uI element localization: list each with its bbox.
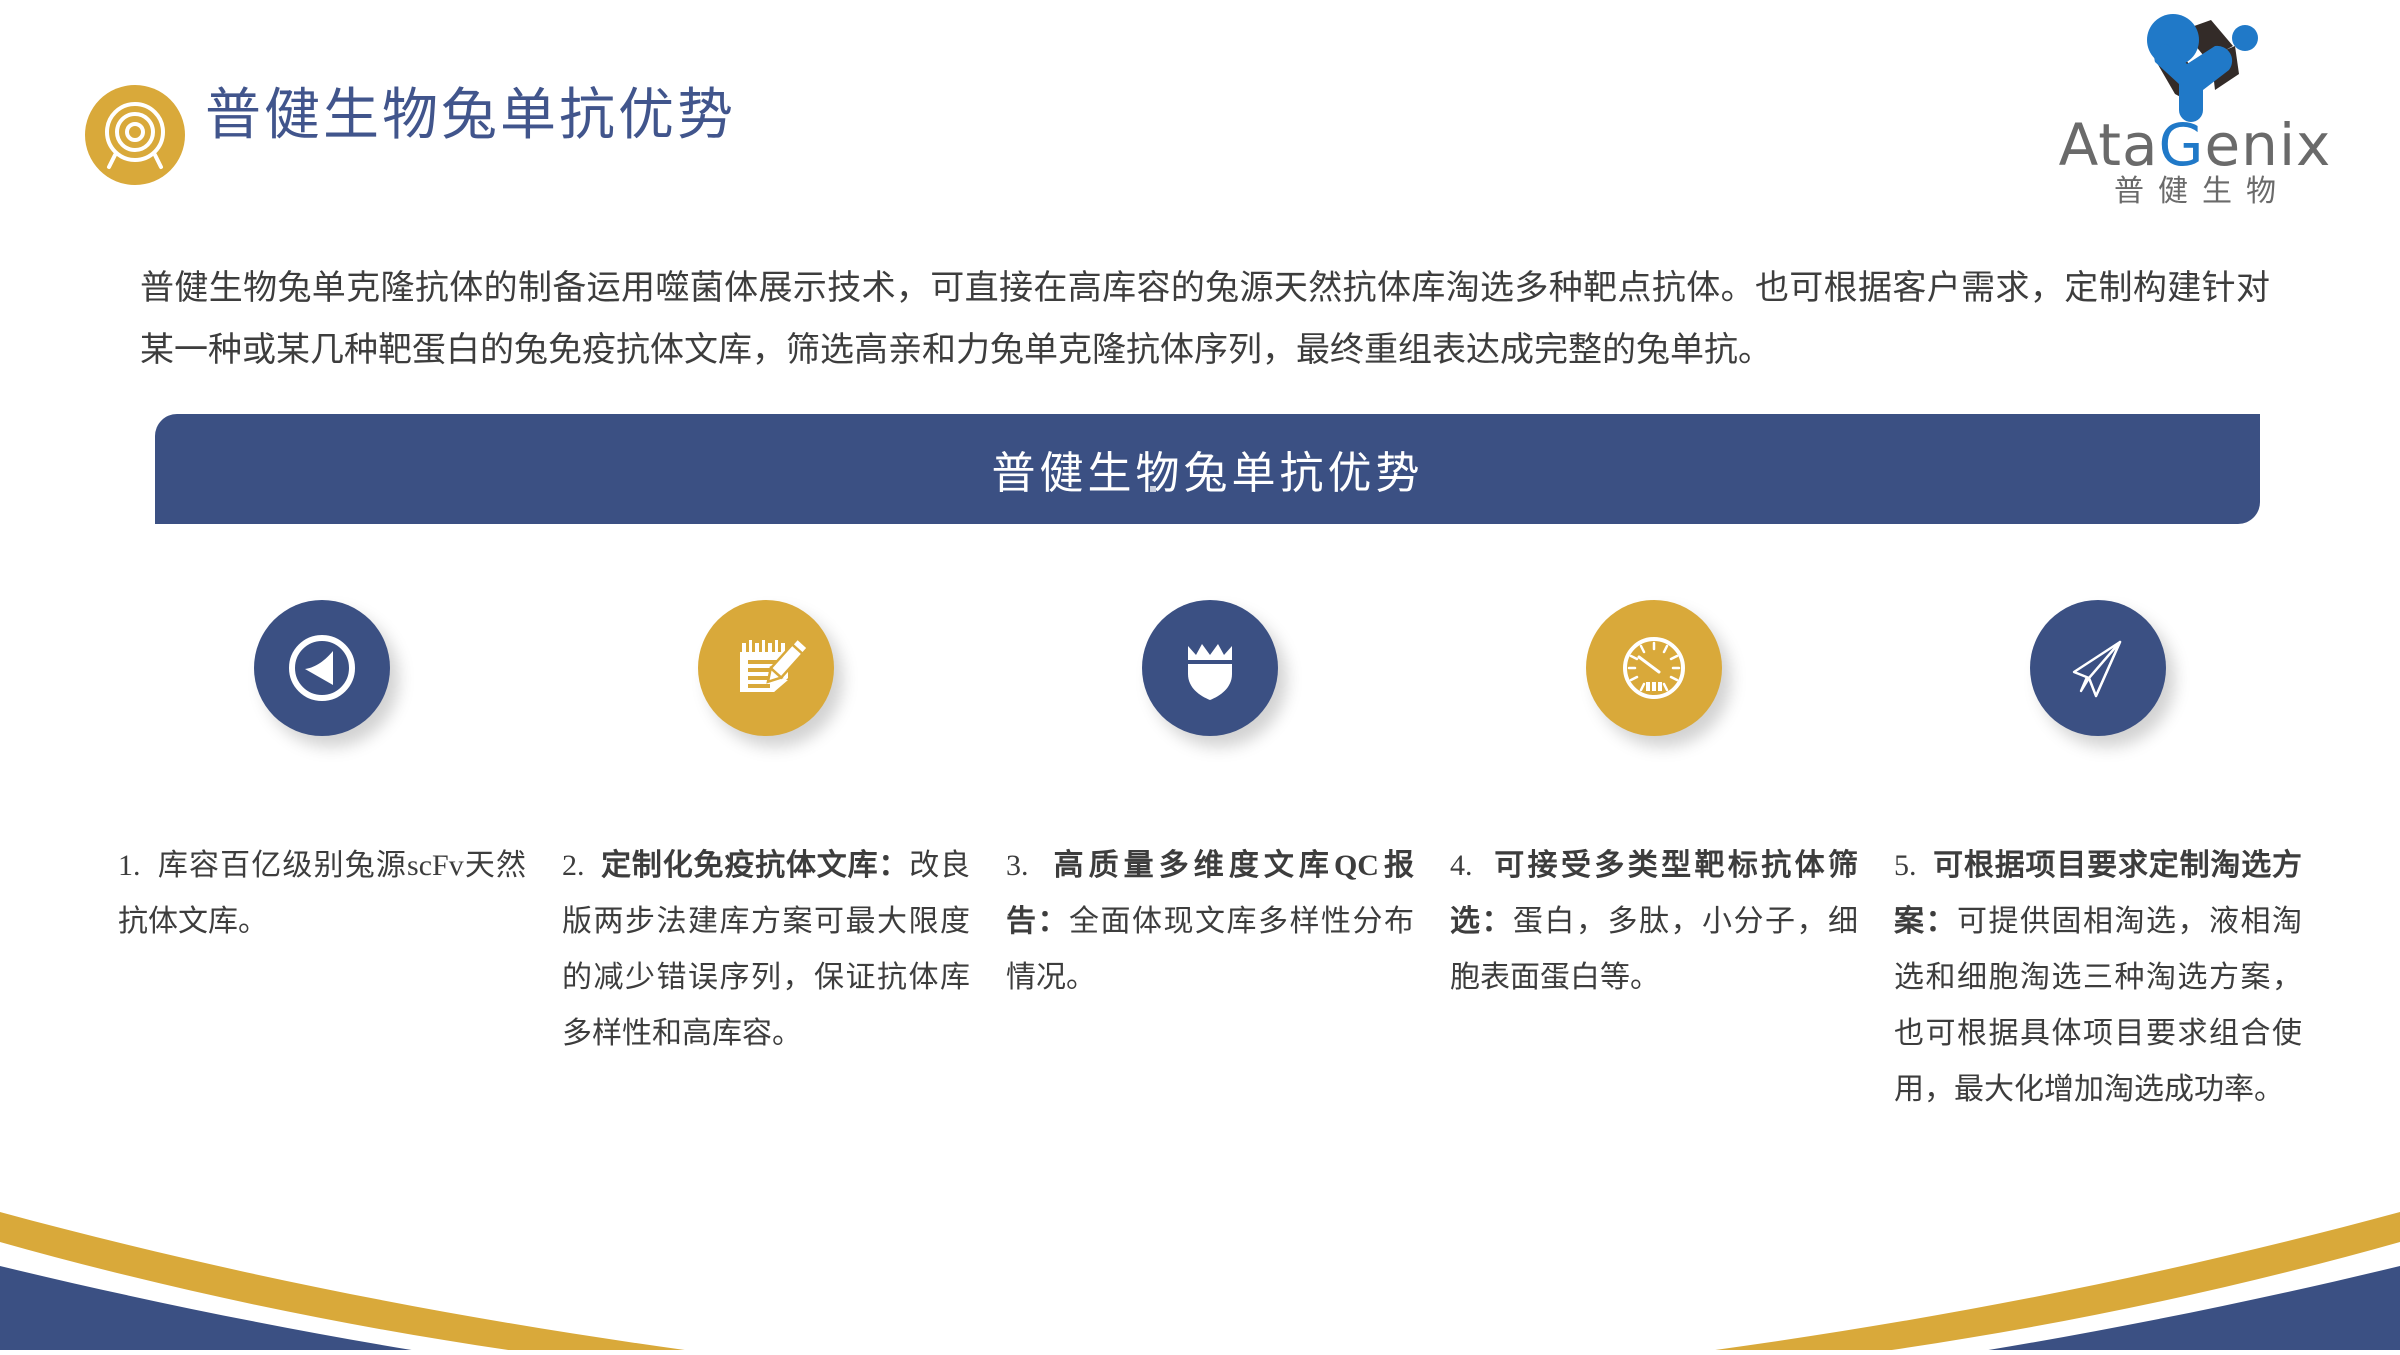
speedometer-icon xyxy=(1614,628,1694,708)
section-banner: 普健生物兔单抗优势 xyxy=(155,414,2260,524)
paper-plane-icon xyxy=(2058,628,2138,708)
feature-item: 1. 库容百亿级别兔源scFv天然抗体文库。 xyxy=(100,600,544,950)
crown-shield-icon xyxy=(1172,630,1248,706)
feature-text: 2. 定制化免疫抗体文库：改良版两步法建库方案可最大限度的减少错误序列，保证抗体… xyxy=(544,838,988,1062)
logo-wordmark: AtaGenix xyxy=(2045,116,2345,174)
company-logo: AtaGenix 普健生物 xyxy=(2045,12,2345,217)
feature-icon-wrap xyxy=(1432,600,1876,780)
intro-paragraph: 普健生物兔单克隆抗体的制备运用噬菌体展示技术，可直接在高库容的兔源天然抗体库淘选… xyxy=(140,258,2270,382)
feature-heading: 定制化免疫抗体文库： xyxy=(601,849,909,882)
feature-body: 库容百亿级别兔源scFv天然抗体文库。 xyxy=(118,849,526,938)
feature-icon-wrap xyxy=(100,600,544,780)
feature-icon-circle[interactable] xyxy=(254,600,390,736)
feature-icon-wrap xyxy=(1876,600,2320,780)
logo-wordmark-part1: Ata xyxy=(2059,111,2159,179)
feature-icon-wrap xyxy=(988,600,1432,780)
page-title: 普健生物兔单抗优势 xyxy=(205,88,736,144)
feature-text: 3. 高质量多维度文库QC报告：全面体现文库多样性分布情况。 xyxy=(988,838,1432,1006)
feature-icon-circle[interactable] xyxy=(1586,600,1722,736)
feature-item: 4. 可接受多类型靶标抗体筛选：蛋白，多肽，小分子，细胞表面蛋白等。 xyxy=(1432,600,1876,1006)
feature-icon-circle[interactable] xyxy=(698,600,834,736)
feature-icon-wrap xyxy=(544,600,988,780)
feature-text: 5. 可根据项目要求定制淘选方案：可提供固相淘选，液相淘选和细胞淘选三种淘选方案… xyxy=(1876,838,2320,1118)
notepad-pencil-icon xyxy=(726,628,806,708)
bottom-decorative-waves xyxy=(0,1130,2400,1350)
target-icon xyxy=(85,85,185,185)
feature-icon-circle[interactable] xyxy=(2030,600,2166,736)
feature-icon-circle[interactable] xyxy=(1142,600,1278,736)
banner-dot xyxy=(1150,486,1156,492)
feature-number: 2. xyxy=(562,849,585,882)
feature-number: 1. xyxy=(118,849,141,882)
feature-list: 1. 库容百亿级别兔源scFv天然抗体文库。 xyxy=(100,600,2320,1118)
feature-text: 4. 可接受多类型靶标抗体筛选：蛋白，多肽，小分子，细胞表面蛋白等。 xyxy=(1432,838,1876,1006)
feature-number: 5. xyxy=(1894,849,1917,882)
feature-item: 5. 可根据项目要求定制淘选方案：可提供固相淘选，液相淘选和细胞淘选三种淘选方案… xyxy=(1876,600,2320,1118)
feature-number: 4. xyxy=(1450,849,1473,882)
logo-wordmark-part2: enix xyxy=(2205,111,2332,179)
feature-item: 2. 定制化免疫抗体文库：改良版两步法建库方案可最大限度的减少错误序列，保证抗体… xyxy=(544,600,988,1062)
page-header: 普健生物兔单抗优势 AtaGenix 普健生物 xyxy=(0,0,2400,210)
logo-wordmark-g: G xyxy=(2159,111,2205,179)
feature-item: 3. 高质量多维度文库QC报告：全面体现文库多样性分布情况。 xyxy=(988,600,1432,1006)
section-banner-title: 普健生物兔单抗优势 xyxy=(155,414,2260,524)
logo-subtitle: 普健生物 xyxy=(2045,177,2345,207)
cursor-triangle-icon xyxy=(283,629,361,707)
feature-text: 1. 库容百亿级别兔源scFv天然抗体文库。 xyxy=(100,838,544,950)
y-shaped-logo-mark-icon xyxy=(2115,12,2275,122)
feature-number: 3. xyxy=(1006,849,1029,882)
